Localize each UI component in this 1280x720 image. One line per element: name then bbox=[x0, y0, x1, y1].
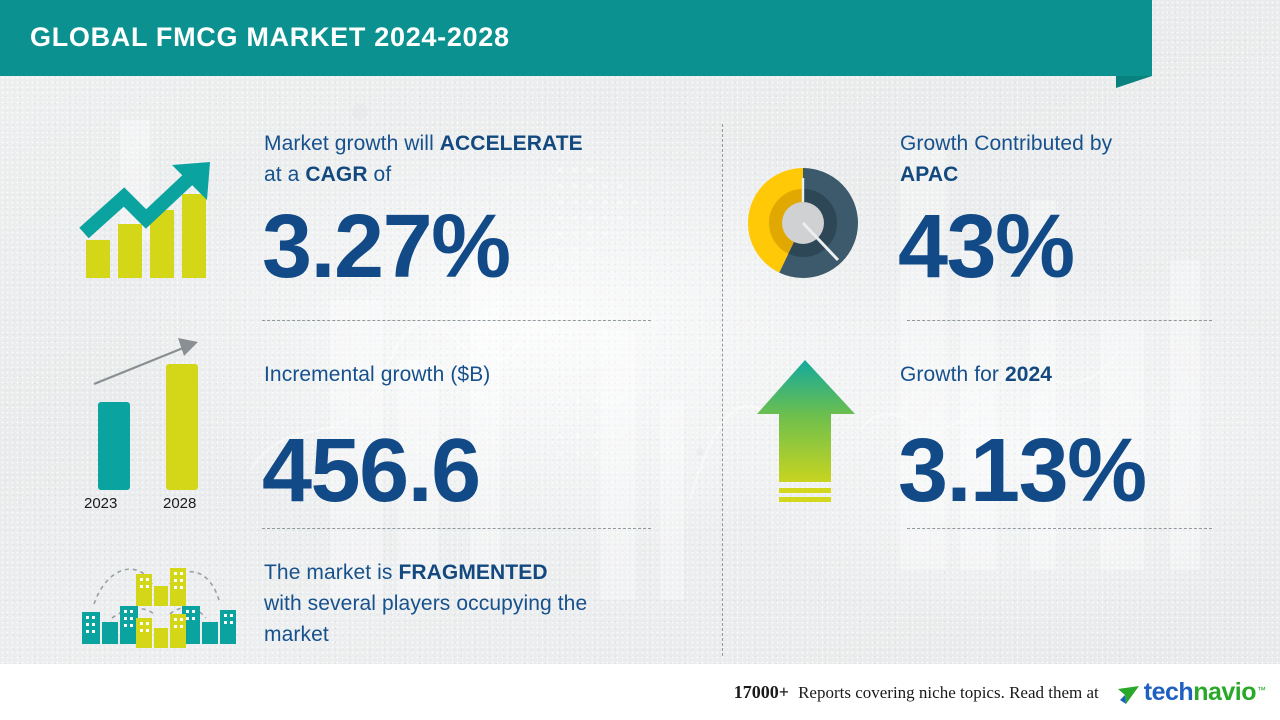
apac-label: Growth Contributed by APAC bbox=[900, 128, 1230, 190]
growth-2024-value: 3.13% bbox=[898, 420, 1146, 523]
logo-text-navio: navio bbox=[1193, 678, 1256, 707]
buildings-network-icon bbox=[78, 556, 238, 652]
building-cluster-left bbox=[82, 606, 138, 644]
apac-value: 43% bbox=[898, 196, 1074, 299]
building-cluster-right bbox=[182, 606, 236, 644]
bar-label-2028: 2028 bbox=[163, 495, 196, 512]
footer-bar: 17000+ Reports covering niche topics. Re… bbox=[0, 664, 1280, 720]
fragmentation-emphasis: FRAGMENTED bbox=[398, 561, 547, 584]
growth-chart-icon bbox=[78, 160, 224, 278]
column-divider bbox=[722, 124, 723, 656]
cagr-value: 3.27% bbox=[262, 196, 510, 299]
incremental-growth-value: 456.6 bbox=[262, 420, 480, 523]
header-ribbon-fold bbox=[1116, 76, 1152, 88]
cagr-label-line2-prefix: at a bbox=[264, 163, 305, 186]
fragmentation-line1-prefix: The market is bbox=[264, 561, 398, 584]
incremental-growth-label: Incremental growth ($B) bbox=[264, 359, 664, 390]
growth-2024-label-prefix: Growth for bbox=[900, 363, 1005, 386]
footer-tagline: Reports covering niche topics. Read them… bbox=[798, 683, 1099, 703]
divider-right-1 bbox=[907, 320, 1212, 321]
divider-right-2 bbox=[907, 528, 1212, 529]
cagr-label: Market growth will ACCELERATE at a CAGR … bbox=[264, 128, 664, 190]
donut-chart-icon bbox=[748, 168, 858, 278]
footer-report-count: 17000+ bbox=[734, 682, 789, 703]
logo-text-tech: tech bbox=[1144, 678, 1193, 707]
cagr-label-line2-suffix: of bbox=[368, 163, 392, 186]
apac-label-line1: Growth Contributed by bbox=[900, 132, 1112, 155]
growth-2024-label: Growth for 2024 bbox=[900, 359, 1230, 390]
cagr-label-line1-prefix: Market growth will bbox=[264, 132, 440, 155]
fragmentation-label: The market is FRAGMENTED with several pl… bbox=[264, 557, 684, 650]
building-cluster-bottom bbox=[136, 614, 186, 648]
arrow-stripe-2 bbox=[779, 497, 831, 502]
bar-label-2023: 2023 bbox=[84, 495, 117, 512]
logo-trademark: ™ bbox=[1257, 685, 1266, 695]
divider-left-1 bbox=[262, 320, 651, 321]
fragmentation-line3: market bbox=[264, 623, 329, 646]
fragmentation-line2: with several players occupying the bbox=[264, 592, 587, 615]
divider-left-2 bbox=[262, 528, 651, 529]
technavio-mark-icon bbox=[1116, 683, 1142, 707]
bar-2023 bbox=[98, 402, 130, 490]
header-bar: GLOBAL FMCG MARKET 2024-2028 bbox=[0, 0, 1152, 76]
apac-label-emphasis: APAC bbox=[900, 163, 958, 186]
bar-2028 bbox=[166, 364, 198, 490]
cagr-label-cagr: CAGR bbox=[305, 163, 367, 186]
arrow-stripe-1 bbox=[779, 488, 831, 493]
growth-2024-label-year: 2024 bbox=[1005, 363, 1052, 386]
cagr-label-accelerate: ACCELERATE bbox=[440, 132, 583, 155]
footer-content: 17000+ Reports covering niche topics. Re… bbox=[734, 678, 1266, 707]
technavio-logo[interactable]: tech navio ™ bbox=[1116, 678, 1266, 707]
page-title: GLOBAL FMCG MARKET 2024-2028 bbox=[30, 22, 510, 53]
bar-compare-icon bbox=[80, 336, 220, 496]
up-arrow-icon bbox=[755, 356, 859, 508]
infographic-canvas: GLOBAL FMCG MARKET 2024-2028 2023 2028 bbox=[0, 0, 1280, 720]
arrow-body bbox=[757, 360, 855, 482]
